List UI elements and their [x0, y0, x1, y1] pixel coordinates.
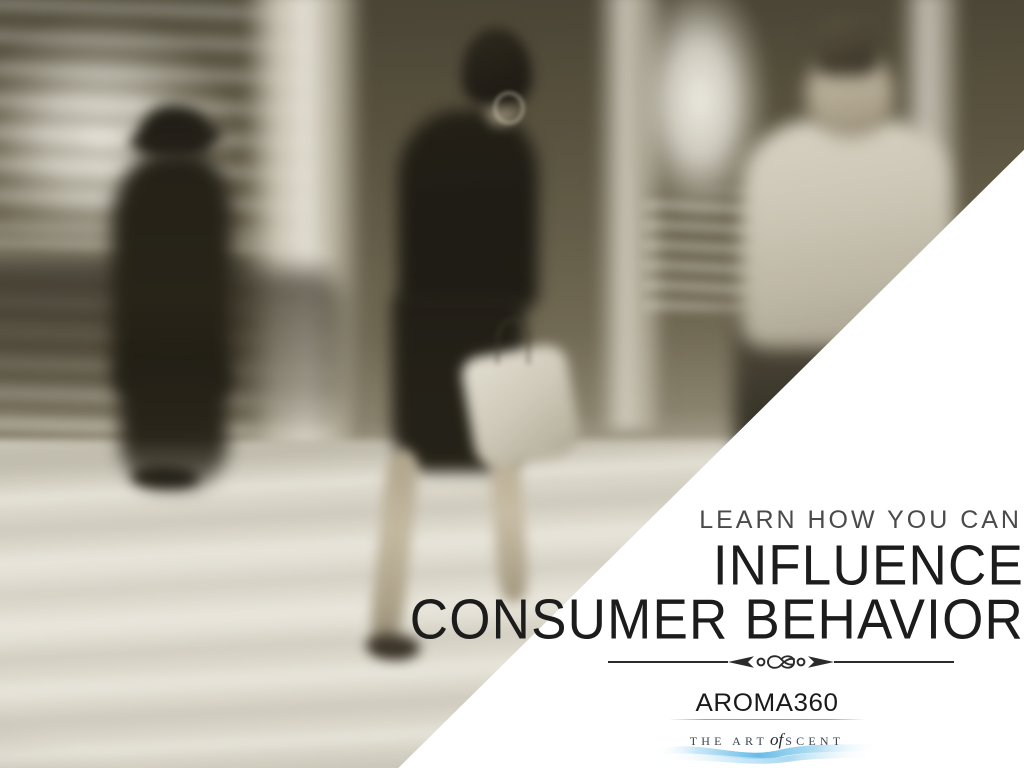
flourish-divider-icon	[608, 652, 954, 672]
logo-tagline: THE ARTofSCENT	[657, 724, 877, 748]
logo-divider-rule	[669, 719, 865, 720]
aroma360-logo[interactable]: AROMA360	[657, 690, 877, 764]
headline-line-1: INFLUENCE	[324, 539, 1024, 594]
logo-tagline-part2: SCENT	[785, 734, 844, 748]
eyebrow-text: LEARN HOW YOU CAN	[324, 508, 1024, 533]
logo-tagline-part1: THE ART	[690, 734, 768, 748]
logo-tagline-of: of	[768, 730, 785, 749]
marketing-slide: LEARN HOW YOU CAN INFLUENCE CONSUMER BEH…	[0, 0, 1024, 768]
headline-block: LEARN HOW YOU CAN INFLUENCE CONSUMER BEH…	[324, 508, 1024, 648]
page-title: INFLUENCE CONSUMER BEHAVIOR	[324, 542, 1024, 648]
logo-tagline-wrap: THE ARTofSCENT	[657, 724, 877, 764]
logo-wordmark: AROMA360	[653, 690, 882, 717]
headline-line-2: CONSUMER BEHAVIOR	[324, 593, 1024, 648]
